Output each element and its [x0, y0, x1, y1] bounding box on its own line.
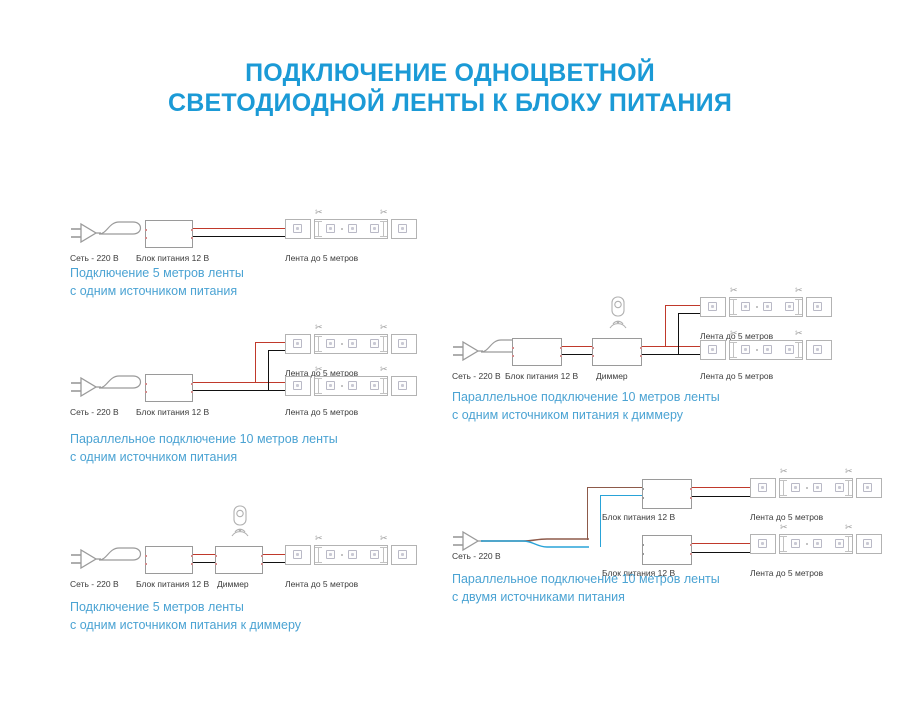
wire-positive-riser: [255, 342, 256, 383]
label-dimmer: Диммер: [217, 579, 249, 589]
cut-marker-icon: ✂: [780, 523, 788, 532]
wire-negative: [193, 562, 215, 563]
label-led-strip: Лента до 5 метров: [285, 579, 358, 589]
wire-negative-branch: [678, 313, 700, 314]
led-strip: ✂ ✂: [285, 334, 417, 354]
wire-positive: [263, 554, 285, 555]
power-supply-block: [145, 546, 193, 574]
cut-marker-icon: ✂: [845, 523, 853, 532]
label-dimmer: Диммер: [596, 371, 628, 381]
label-led-strip: Лента до 5 метров: [750, 512, 823, 522]
caption-line-1: Подключение 5 метров ленты: [70, 264, 244, 282]
wire-positive-riser: [665, 305, 666, 347]
cut-marker-icon: ✂: [315, 534, 323, 543]
cut-marker-icon: ✂: [845, 467, 853, 476]
cut-marker-icon: ✂: [315, 208, 323, 217]
led-strip: ✂ ✂: [285, 545, 417, 565]
label-led-strip: Лента до 5 метров: [285, 407, 358, 417]
led-strip: ✂ ✂: [700, 297, 832, 317]
label-led-strip: Лента до 5 метров: [700, 371, 773, 381]
mains-cable: [99, 546, 149, 576]
dimmer-block: [215, 546, 263, 574]
wire-negative: [193, 236, 285, 237]
caption-line-2: с одним источником питания: [70, 282, 244, 300]
caption-line-2: с одним источником питания к диммеру: [70, 616, 301, 634]
wire-negative: [263, 562, 285, 563]
page-title-line-1: ПОДКЛЮЧЕНИЕ ОДНОЦВЕТНОЙ: [245, 59, 655, 87]
caption-line-2: с одним источником питания к диммеру: [452, 406, 720, 424]
caption-line-1: Подключение 5 метров ленты: [70, 598, 301, 616]
diagram-5-caption: Параллельное подключение 10 метров ленты…: [452, 570, 720, 606]
wire-negative: [562, 354, 592, 355]
wire-negative-branch: [268, 350, 285, 351]
caption-line-2: с двумя источниками питания: [452, 588, 720, 606]
power-supply-block: [642, 479, 692, 509]
page-title-line-2: СВЕТОДИОДНОЙ ЛЕНТЫ К БЛОКУ ПИТАНИЯ: [0, 88, 900, 118]
label-mains: Сеть - 220 В: [70, 407, 119, 417]
label-mains: Сеть - 220 В: [70, 253, 119, 263]
led-strip: ✂ ✂: [285, 219, 417, 239]
led-strip: ✂ ✂: [750, 478, 882, 498]
dimmer-block: [592, 338, 642, 366]
caption-line-1: Параллельное подключение 10 метров ленты: [452, 570, 720, 588]
remote-control-icon: [228, 505, 252, 543]
cut-marker-icon: ✂: [780, 467, 788, 476]
wire-positive: [642, 346, 700, 347]
diagram-4-caption: Параллельное подключение 10 метров ленты…: [452, 388, 720, 424]
page-title: ПОДКЛЮЧЕНИЕ ОДНОЦВЕТНОЙ СВЕТОДИОДНОЙ ЛЕН…: [0, 58, 900, 118]
cut-marker-icon: ✂: [730, 286, 738, 295]
caption-line-2: с одним источником питания: [70, 448, 338, 466]
wire-positive-branch: [255, 342, 285, 343]
label-led-strip: Лента до 5 метров: [750, 568, 823, 578]
cut-marker-icon: ✂: [380, 323, 388, 332]
power-supply-block: [512, 338, 562, 366]
led-strip: ✂ ✂: [700, 340, 832, 360]
cut-marker-icon: ✂: [730, 329, 738, 338]
remote-control-icon: [606, 296, 630, 336]
wire-positive: [692, 543, 750, 544]
label-power-supply: Блок питания 12 В: [136, 407, 209, 417]
wire-negative-riser: [678, 313, 679, 355]
caption-line-1: Параллельное подключение 10 метров ленты: [70, 430, 338, 448]
label-mains: Сеть - 220 В: [452, 551, 501, 561]
mains-cable: [99, 374, 149, 404]
power-supply-block: [642, 535, 692, 565]
label-power-supply: Блок питания 12 В: [602, 512, 675, 522]
wire-positive: [193, 228, 285, 229]
wire-line-branch: [587, 487, 642, 488]
cut-marker-icon: ✂: [380, 208, 388, 217]
label-led-strip: Лента до 5 метров: [285, 253, 358, 263]
cut-marker-icon: ✂: [795, 286, 803, 295]
label-mains: Сеть - 220 В: [452, 371, 501, 381]
wire-negative: [193, 390, 285, 391]
cut-marker-icon: ✂: [795, 329, 803, 338]
wire-line-riser: [587, 487, 588, 540]
label-mains: Сеть - 220 В: [70, 579, 119, 589]
wire-positive: [193, 382, 285, 383]
label-power-supply: Блок питания 12 В: [136, 579, 209, 589]
power-supply-block: [145, 374, 193, 402]
wire-negative-riser: [268, 350, 269, 391]
diagram-1-caption: Подключение 5 метров ленты с одним источ…: [70, 264, 244, 300]
cut-marker-icon: ✂: [380, 365, 388, 374]
label-power-supply: Блок питания 12 В: [136, 253, 209, 263]
power-supply-block: [145, 220, 193, 248]
mains-cable: [99, 220, 149, 250]
wire-positive: [692, 487, 750, 488]
wire-negative: [692, 496, 750, 497]
cut-marker-icon: ✂: [315, 323, 323, 332]
wire-negative: [642, 354, 700, 355]
diagram-canvas: ПОДКЛЮЧЕНИЕ ОДНОЦВЕТНОЙ СВЕТОДИОДНОЙ ЛЕН…: [0, 0, 900, 720]
caption-line-1: Параллельное подключение 10 метров ленты: [452, 388, 720, 406]
led-strip: ✂ ✂: [285, 376, 417, 396]
wire-positive-branch: [665, 305, 700, 306]
wire-positive: [562, 346, 592, 347]
wire-negative: [692, 552, 750, 553]
wire-positive: [193, 554, 215, 555]
cut-marker-icon: ✂: [380, 534, 388, 543]
wire-neutral-branch: [600, 495, 642, 496]
cut-marker-icon: ✂: [315, 365, 323, 374]
led-strip: ✂ ✂: [750, 534, 882, 554]
label-power-supply: Блок питания 12 В: [505, 371, 578, 381]
diagram-3-caption: Подключение 5 метров ленты с одним источ…: [70, 598, 301, 634]
diagram-2-caption: Параллельное подключение 10 метров ленты…: [70, 430, 338, 466]
